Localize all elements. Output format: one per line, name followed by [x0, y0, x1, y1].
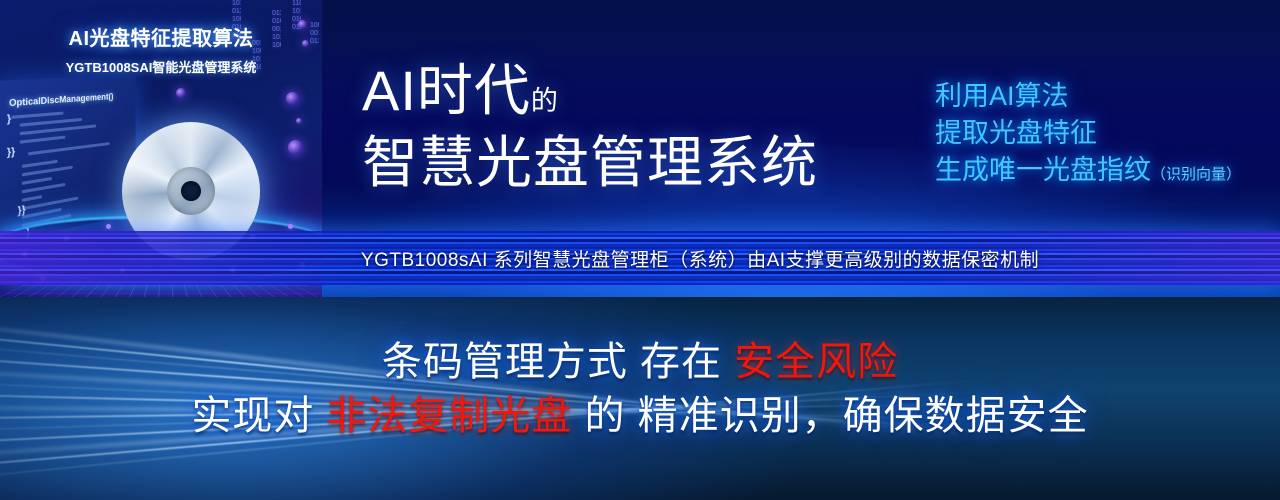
- disc-center-hole: [181, 181, 201, 201]
- rain-glyph: 1011: [292, 8, 301, 16]
- code-function-label: OpticalDiscManagement(): [9, 92, 113, 109]
- product-banner: AI光盘特征提取算法 YGTB1008SAI智能光盘管理系统 OpticalDi…: [0, 0, 1280, 500]
- top-section: AI光盘特征提取算法 YGTB1008SAI智能光盘管理系统 OpticalDi…: [0, 0, 1280, 297]
- subtitle-bar: YGTB1008sAI 系列智慧光盘管理柜（系统）由AI支撑更高级别的数据保密机…: [0, 245, 1280, 272]
- feature-item-3-note: （识别向量）: [1151, 166, 1241, 183]
- code-line: [22, 160, 58, 168]
- left-panel-subtitle: YGTB1008SAI智能光盘管理系统: [0, 57, 322, 76]
- code-brace-2: }}: [7, 146, 15, 159]
- bottom-headline-2-prefix: 实现对: [191, 394, 326, 438]
- bottom-headline-1-text: 条码管理方式 存在: [382, 340, 734, 384]
- code-line: [22, 177, 52, 185]
- main-title-line-2: 智慧光盘管理系统: [362, 130, 818, 196]
- code-line: [20, 136, 66, 144]
- rain-glyph: 0110: [272, 10, 281, 18]
- left-panel-heading: AI光盘特征提取算法 YGTB1008SAI智能光盘管理系统: [0, 22, 322, 76]
- bottom-headline-2: 实现对 非法复制光盘 的 精准识别，确保数据安全: [0, 389, 1280, 443]
- code-line: [28, 142, 110, 155]
- grid-node: [106, 224, 111, 229]
- bokeh-dot: [288, 140, 303, 155]
- code-line: [11, 112, 63, 119]
- rain-glyph: 1011: [232, 0, 241, 8]
- code-line: [20, 124, 96, 135]
- subtitle-text: YGTB1008sAI 系列智慧光盘管理柜（系统）由AI支撑更高级别的数据保密机…: [241, 250, 1039, 271]
- feature-list: 利用AI算法 提取光盘特征 生成唯一光盘指纹（识别向量）: [935, 78, 1241, 193]
- feature-item-2: 提取光盘特征: [935, 115, 1241, 152]
- bokeh-dot: [286, 92, 299, 105]
- code-line: [22, 195, 42, 202]
- rain-glyph: 1100: [292, 0, 301, 8]
- feature-item-1: 利用AI算法: [935, 78, 1241, 115]
- grid-node: [288, 224, 293, 229]
- rain-glyph: 0110: [232, 8, 241, 16]
- main-title-primary: AI时代: [362, 59, 531, 122]
- feature-item-3: 生成唯一光盘指纹（识别向量）: [935, 152, 1241, 193]
- left-panel-title: AI光盘特征提取算法: [0, 22, 322, 51]
- bottom-headline-2-highlight: 非法复制光盘: [326, 394, 572, 438]
- code-line: [22, 183, 66, 194]
- code-line: [20, 118, 82, 127]
- bokeh-dot: [296, 118, 302, 124]
- code-brace-1: }: [7, 114, 11, 126]
- bottom-headline-1: 条码管理方式 存在 安全风险: [0, 335, 1280, 389]
- bokeh-dot: [176, 88, 186, 98]
- bottom-headlines: 条码管理方式 存在 安全风险 实现对 非法复制光盘 的 精准识别，确保数据安全: [0, 335, 1280, 443]
- bottom-headline-2-suffix: 的 精准识别，确保数据安全: [572, 394, 1088, 438]
- main-title-line-1: AI时代的: [362, 62, 818, 130]
- code-brace-3: }}: [18, 204, 26, 217]
- feature-item-3-text: 生成唯一光盘指纹: [935, 155, 1151, 185]
- main-title-particle: 的: [531, 86, 559, 116]
- main-title: AI时代的 智慧光盘管理系统: [362, 62, 818, 196]
- code-line: [22, 166, 73, 177]
- bottom-headline-1-highlight: 安全风险: [734, 340, 898, 384]
